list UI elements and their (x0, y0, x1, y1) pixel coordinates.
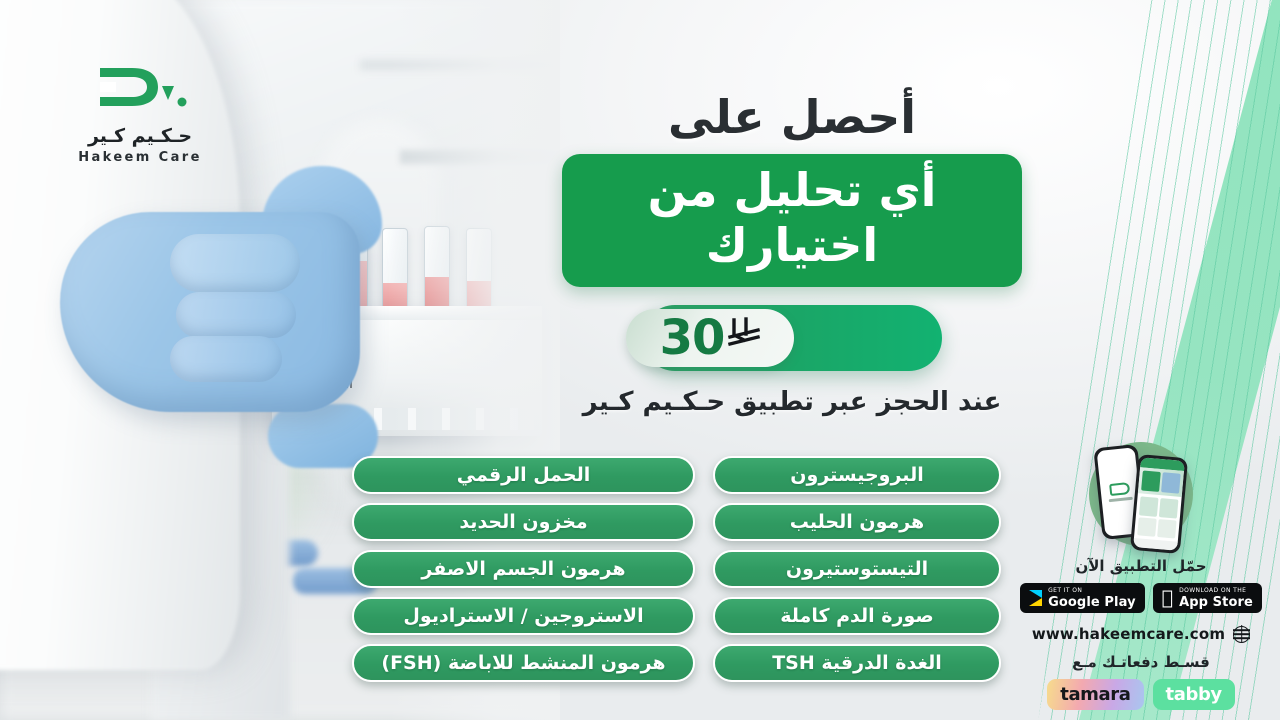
photo-shelf (400, 150, 560, 164)
test-column-left: البروجيسترون هرمون الحليب التيستوستيرون … (713, 456, 1001, 682)
globe-icon (1233, 626, 1250, 643)
test-pill[interactable]: هرمون الحليب (713, 503, 1001, 541)
test-pill[interactable]: الاستروجين / الاستراديول (352, 597, 695, 635)
phone-mockup-front (1130, 454, 1188, 554)
phone-splash-logo-icon (1109, 482, 1130, 496)
test-pill-label: التيستوستيرون (786, 558, 928, 580)
price-value-chip: 30 (626, 309, 794, 367)
test-pill[interactable]: البروجيسترون (713, 456, 1001, 494)
price-badge: فقط بـ 30 (642, 305, 942, 371)
test-pill[interactable]: مخزون الحديد (352, 503, 695, 541)
google-play-icon (1029, 590, 1042, 606)
test-pill-label: البروجيسترون (790, 464, 923, 486)
google-play-badge[interactable]: GET IT ON Google Play (1020, 583, 1145, 613)
brand-logo[interactable]: حـكـيم كـير Hakeem Care (52, 56, 228, 165)
test-pill[interactable]: الغدة الدرقية TSH (713, 644, 1001, 682)
tamara-logo[interactable]: tamara (1047, 679, 1143, 710)
brand-name-en: Hakeem Care (52, 150, 228, 165)
website-row[interactable]: www.hakeemcare.com (1016, 625, 1266, 643)
app-store-badge[interactable]:  Download on the App Store (1153, 583, 1262, 613)
headline-line-1: أحصل على (562, 92, 1022, 144)
test-pill-label: الاستروجين / الاستراديول (403, 605, 643, 627)
headline-block: أحصل على أي تحليل من اختيارك فقط بـ (562, 92, 1022, 417)
apple-icon:  (1162, 589, 1173, 608)
test-pill-label: الحمل الرقمي (457, 464, 591, 486)
test-pill-label: صورة الدم كاملة (780, 605, 933, 627)
test-pill-label: هرمون المنشط للاباضة (FSH) (381, 652, 665, 674)
test-pill-label: هرمون الجسم الاصفر (421, 558, 625, 580)
test-tube-icon (466, 228, 492, 320)
test-pill-label: مخزون الحديد (459, 511, 587, 533)
two-phones-mockup-icon (1016, 438, 1266, 550)
test-pill[interactable]: صورة الدم كاملة (713, 597, 1001, 635)
google-play-small-label: GET IT ON (1048, 588, 1136, 594)
payment-logos: tamara tabby (1016, 679, 1266, 710)
google-play-label: Google Play (1048, 596, 1136, 609)
app-download-panel: حمّل التطبيق الآن GET IT ON Google Play … (1016, 438, 1266, 710)
hakeem-d-monogram-icon (52, 56, 228, 118)
test-pill[interactable]: هرمون الجسم الاصفر (352, 550, 695, 588)
phone-app-banner (1138, 467, 1184, 497)
photo-finger (176, 292, 296, 338)
test-pill-label: الغدة الدرقية TSH (772, 652, 942, 674)
promo-banner: حـكـيم كـير Hakeem Care أحصل على أي تحلي… (0, 0, 1280, 720)
headline-line-2: أي تحليل من اختيارك (580, 163, 1004, 273)
price-number: 30 (660, 314, 725, 362)
phone-app-tiles (1134, 493, 1182, 542)
test-tube-icon (424, 226, 450, 318)
test-list: الحمل الرقمي مخزون الحديد هرمون الجسم ال… (352, 456, 1008, 682)
test-pill[interactable]: التيستوستيرون (713, 550, 1001, 588)
app-store-label: App Store (1179, 596, 1253, 609)
download-app-cta: حمّل التطبيق الآن (1016, 557, 1266, 575)
test-pill[interactable]: الحمل الرقمي (352, 456, 695, 494)
brand-name-ar: حـكـيم كـير (52, 125, 228, 147)
phone-splash-text (1109, 497, 1133, 502)
test-column-right: الحمل الرقمي مخزون الحديد هرمون الجسم ال… (352, 456, 695, 682)
photo-finger (170, 336, 282, 382)
photo-shelf (360, 60, 560, 70)
headline-green-bar: أي تحليل من اختيارك (562, 154, 1022, 287)
website-url: www.hakeemcare.com (1032, 625, 1225, 643)
installment-label: قسـط دفعاتـك مـع (1016, 653, 1266, 671)
saudi-riyal-symbol-icon (728, 316, 760, 357)
test-pill[interactable]: هرمون المنشط للاباضة (FSH) (352, 644, 695, 682)
photo-thumb (170, 234, 300, 292)
headline-subtitle: عند الحجز عبر تطبيق حـكـيم كـير (562, 387, 1022, 417)
store-badges: GET IT ON Google Play  Download on the … (1016, 583, 1266, 613)
app-store-small-label: Download on the (1179, 588, 1253, 594)
test-pill-label: هرمون الحليب (790, 511, 924, 533)
tabby-logo[interactable]: tabby (1153, 679, 1235, 710)
